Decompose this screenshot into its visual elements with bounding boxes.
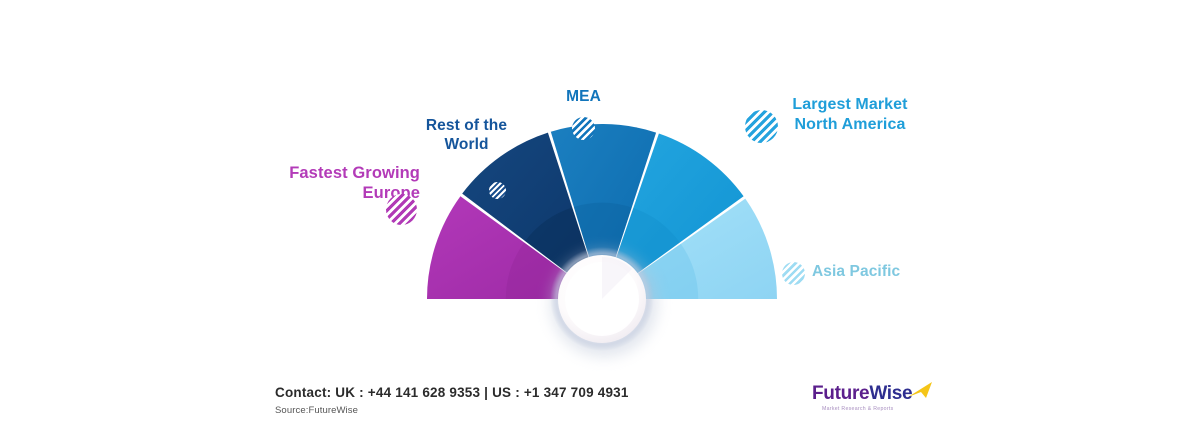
striped-circle-blue-icon: [572, 117, 595, 140]
label-north-america: Largest MarketNorth America: [770, 95, 930, 134]
contact-line: Contact: UK : +44 141 628 9353 | US : +1…: [275, 385, 629, 400]
label-europe-line1: Fastest Growing: [289, 164, 420, 182]
label-north-america-line1: Largest Market: [792, 96, 907, 113]
logo-arrow-icon: [906, 381, 934, 403]
label-north-america-line2: North America: [795, 116, 906, 133]
logo-wordmark: FutureWise: [812, 383, 912, 405]
radial-fan-chart: [0, 0, 1200, 428]
label-rest-of-world: Rest of theWorld: [404, 117, 529, 155]
infographic-canvas: Fastest GrowingEurope Rest of theWorld M…: [0, 0, 1200, 428]
label-rest-of-world-line1: Rest of the: [426, 117, 507, 134]
source-line: Source:FutureWise: [275, 405, 358, 416]
striped-circle-cyan-icon: [745, 110, 778, 143]
striped-circle-lightblue-icon: [782, 262, 805, 285]
futurewise-logo[interactable]: FutureWise Market Research & Reports: [812, 383, 932, 417]
striped-circle-navy-icon: [489, 182, 506, 199]
logo-tagline: Market Research & Reports: [822, 406, 894, 412]
logo-word-future: Future: [812, 383, 869, 404]
striped-circle-magenta-icon: [386, 194, 417, 225]
label-rest-of-world-line2: World: [444, 136, 488, 153]
label-asia-pacific: Asia Pacific: [812, 263, 952, 282]
label-mea: MEA: [531, 88, 636, 107]
